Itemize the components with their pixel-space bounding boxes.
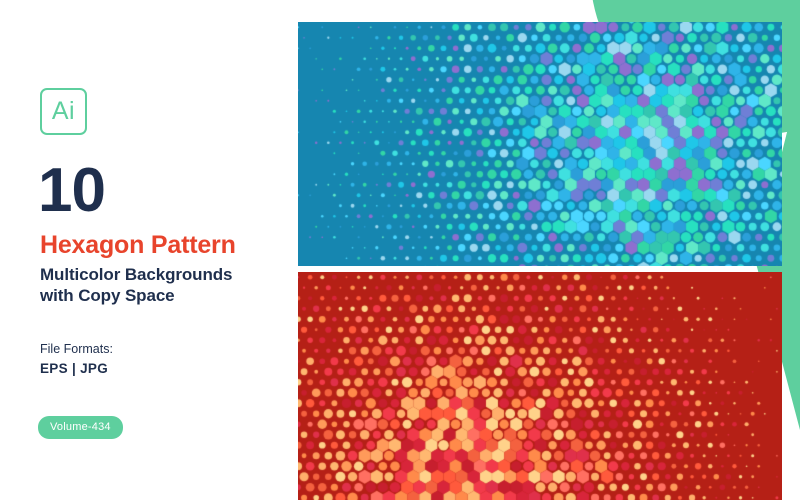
adobe-illustrator-badge: Ai <box>40 88 87 135</box>
volume-badge: Volume-434 <box>38 416 123 439</box>
item-count: 10 <box>38 160 105 222</box>
preview-hexagon-pattern-red[interactable] <box>298 272 782 500</box>
file-formats-value: EPS | JPG <box>40 361 108 376</box>
hexagon-pattern-blue-canvas <box>298 22 782 266</box>
page-subtitle-line-2: with Copy Space <box>40 285 232 306</box>
hexagon-pattern-red-canvas <box>298 272 782 500</box>
info-panel: Ai 10 Hexagon Pattern Multicolor Backgro… <box>0 0 298 500</box>
poster-canvas: Ai 10 Hexagon Pattern Multicolor Backgro… <box>0 0 800 500</box>
page-title: Hexagon Pattern <box>40 232 236 260</box>
page-subtitle-line-1: Multicolor Backgrounds <box>40 264 232 285</box>
page-subtitle: Multicolor Backgrounds with Copy Space <box>40 264 232 307</box>
adobe-illustrator-badge-label: Ai <box>52 97 75 126</box>
file-formats-label: File Formats: <box>40 342 113 356</box>
preview-hexagon-pattern-blue[interactable] <box>298 22 782 266</box>
